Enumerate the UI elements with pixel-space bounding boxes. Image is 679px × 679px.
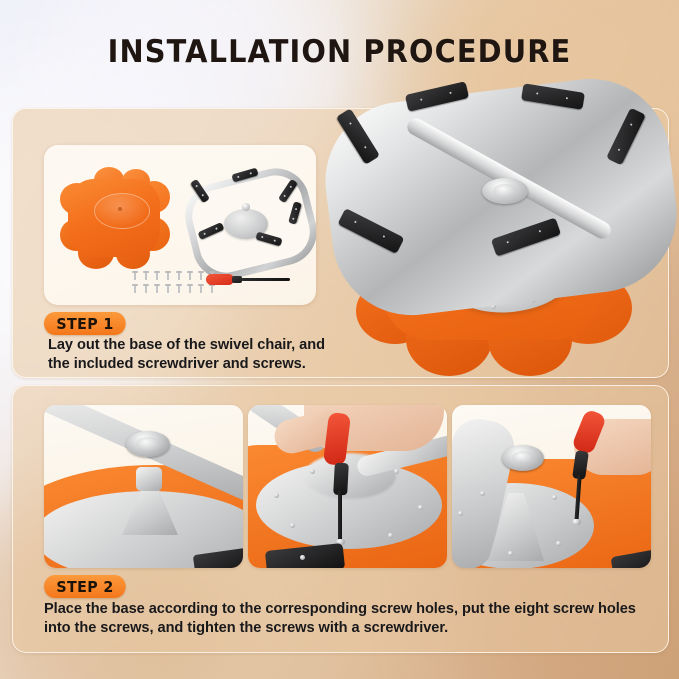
step-2-photo-3 [452, 405, 651, 568]
screwdriver-part [206, 273, 290, 285]
step-1-caption: Lay out the base of the swivel chair, an… [48, 336, 348, 374]
step-1-parts-photo [44, 145, 316, 305]
step-2-photo-2 [248, 405, 447, 568]
chair-seat-part [60, 167, 168, 269]
hero-swivel-bearing [482, 178, 528, 204]
swivel-frame-part [184, 169, 304, 267]
step-2-caption: Place the base according to the correspo… [44, 600, 664, 638]
infographic-page: INSTALLATION PROCEDURE [0, 0, 679, 679]
step-1-badge: STEP 1 [44, 312, 126, 335]
step-2-photo-1 [44, 405, 243, 568]
page-title: INSTALLATION PROCEDURE [24, 34, 655, 70]
hero-assembled-base-photo [322, 86, 672, 382]
step-2-badge: STEP 2 [44, 575, 126, 598]
